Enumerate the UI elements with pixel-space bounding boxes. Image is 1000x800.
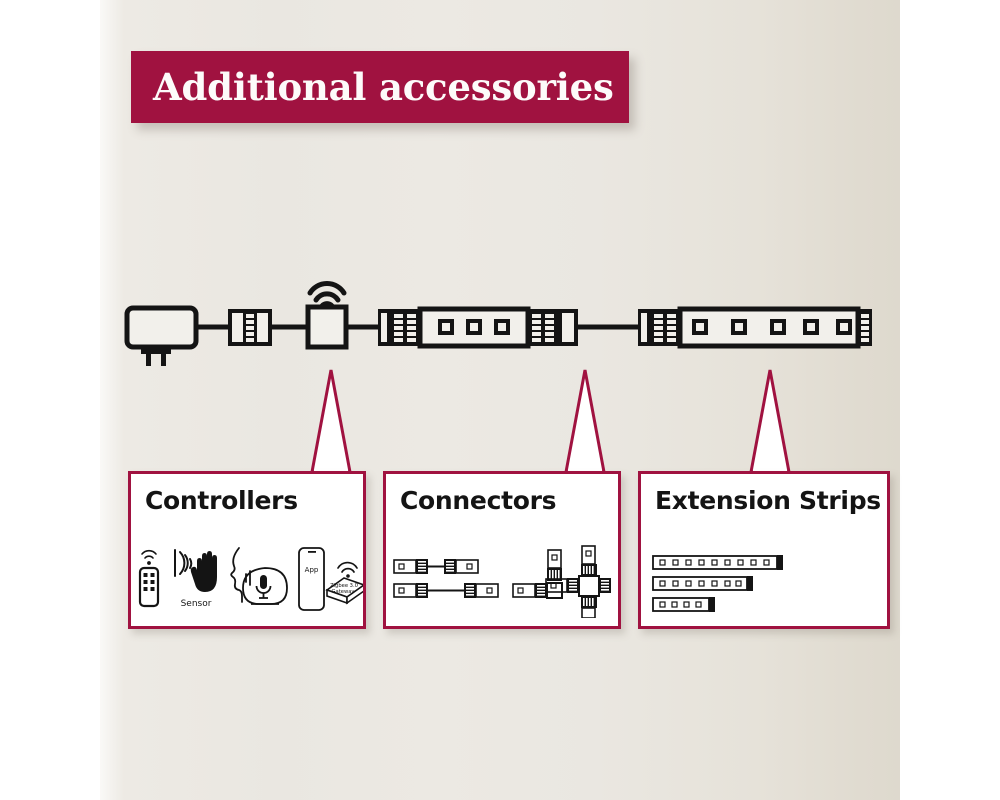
motion-sensor-icon: Sensor (175, 550, 217, 609)
remote-control-icon (140, 551, 158, 606)
extension-strip-long-icon (653, 555, 783, 570)
straight-connector-short-icon (394, 559, 478, 574)
app-gateway-icon: App Zigbee 3.0 Gateway (299, 548, 363, 610)
card-connectors-icons (386, 540, 618, 618)
card-extensions-icons (641, 540, 887, 618)
microphone-icon (257, 575, 271, 598)
card-extensions-title: Extension Strips (641, 474, 887, 515)
card-controllers-icons: Sensor (131, 540, 363, 618)
corner-connector-icon (513, 550, 562, 598)
screenshot-root: Additional accessories (0, 0, 1000, 800)
straight-connector-long-icon (394, 583, 498, 598)
card-extensions[interactable]: Extension Strips (638, 471, 890, 629)
app-label: App (305, 566, 319, 574)
card-controllers-title: Controllers (131, 474, 363, 515)
gateway-wifi-icon (338, 563, 357, 572)
extension-strip-medium-icon (653, 576, 753, 591)
gateway-label-line2: Gateway (332, 589, 355, 595)
extension-strip-short-icon (653, 597, 715, 612)
page-title: Additional accessories (131, 65, 614, 109)
voice-control-icon (231, 548, 287, 604)
page-title-banner: Additional accessories (131, 51, 629, 123)
card-connectors-title: Connectors (386, 474, 618, 515)
sensor-label: Sensor (181, 599, 212, 609)
card-controllers[interactable]: Controllers (128, 471, 366, 629)
card-connectors[interactable]: Connectors (383, 471, 621, 629)
